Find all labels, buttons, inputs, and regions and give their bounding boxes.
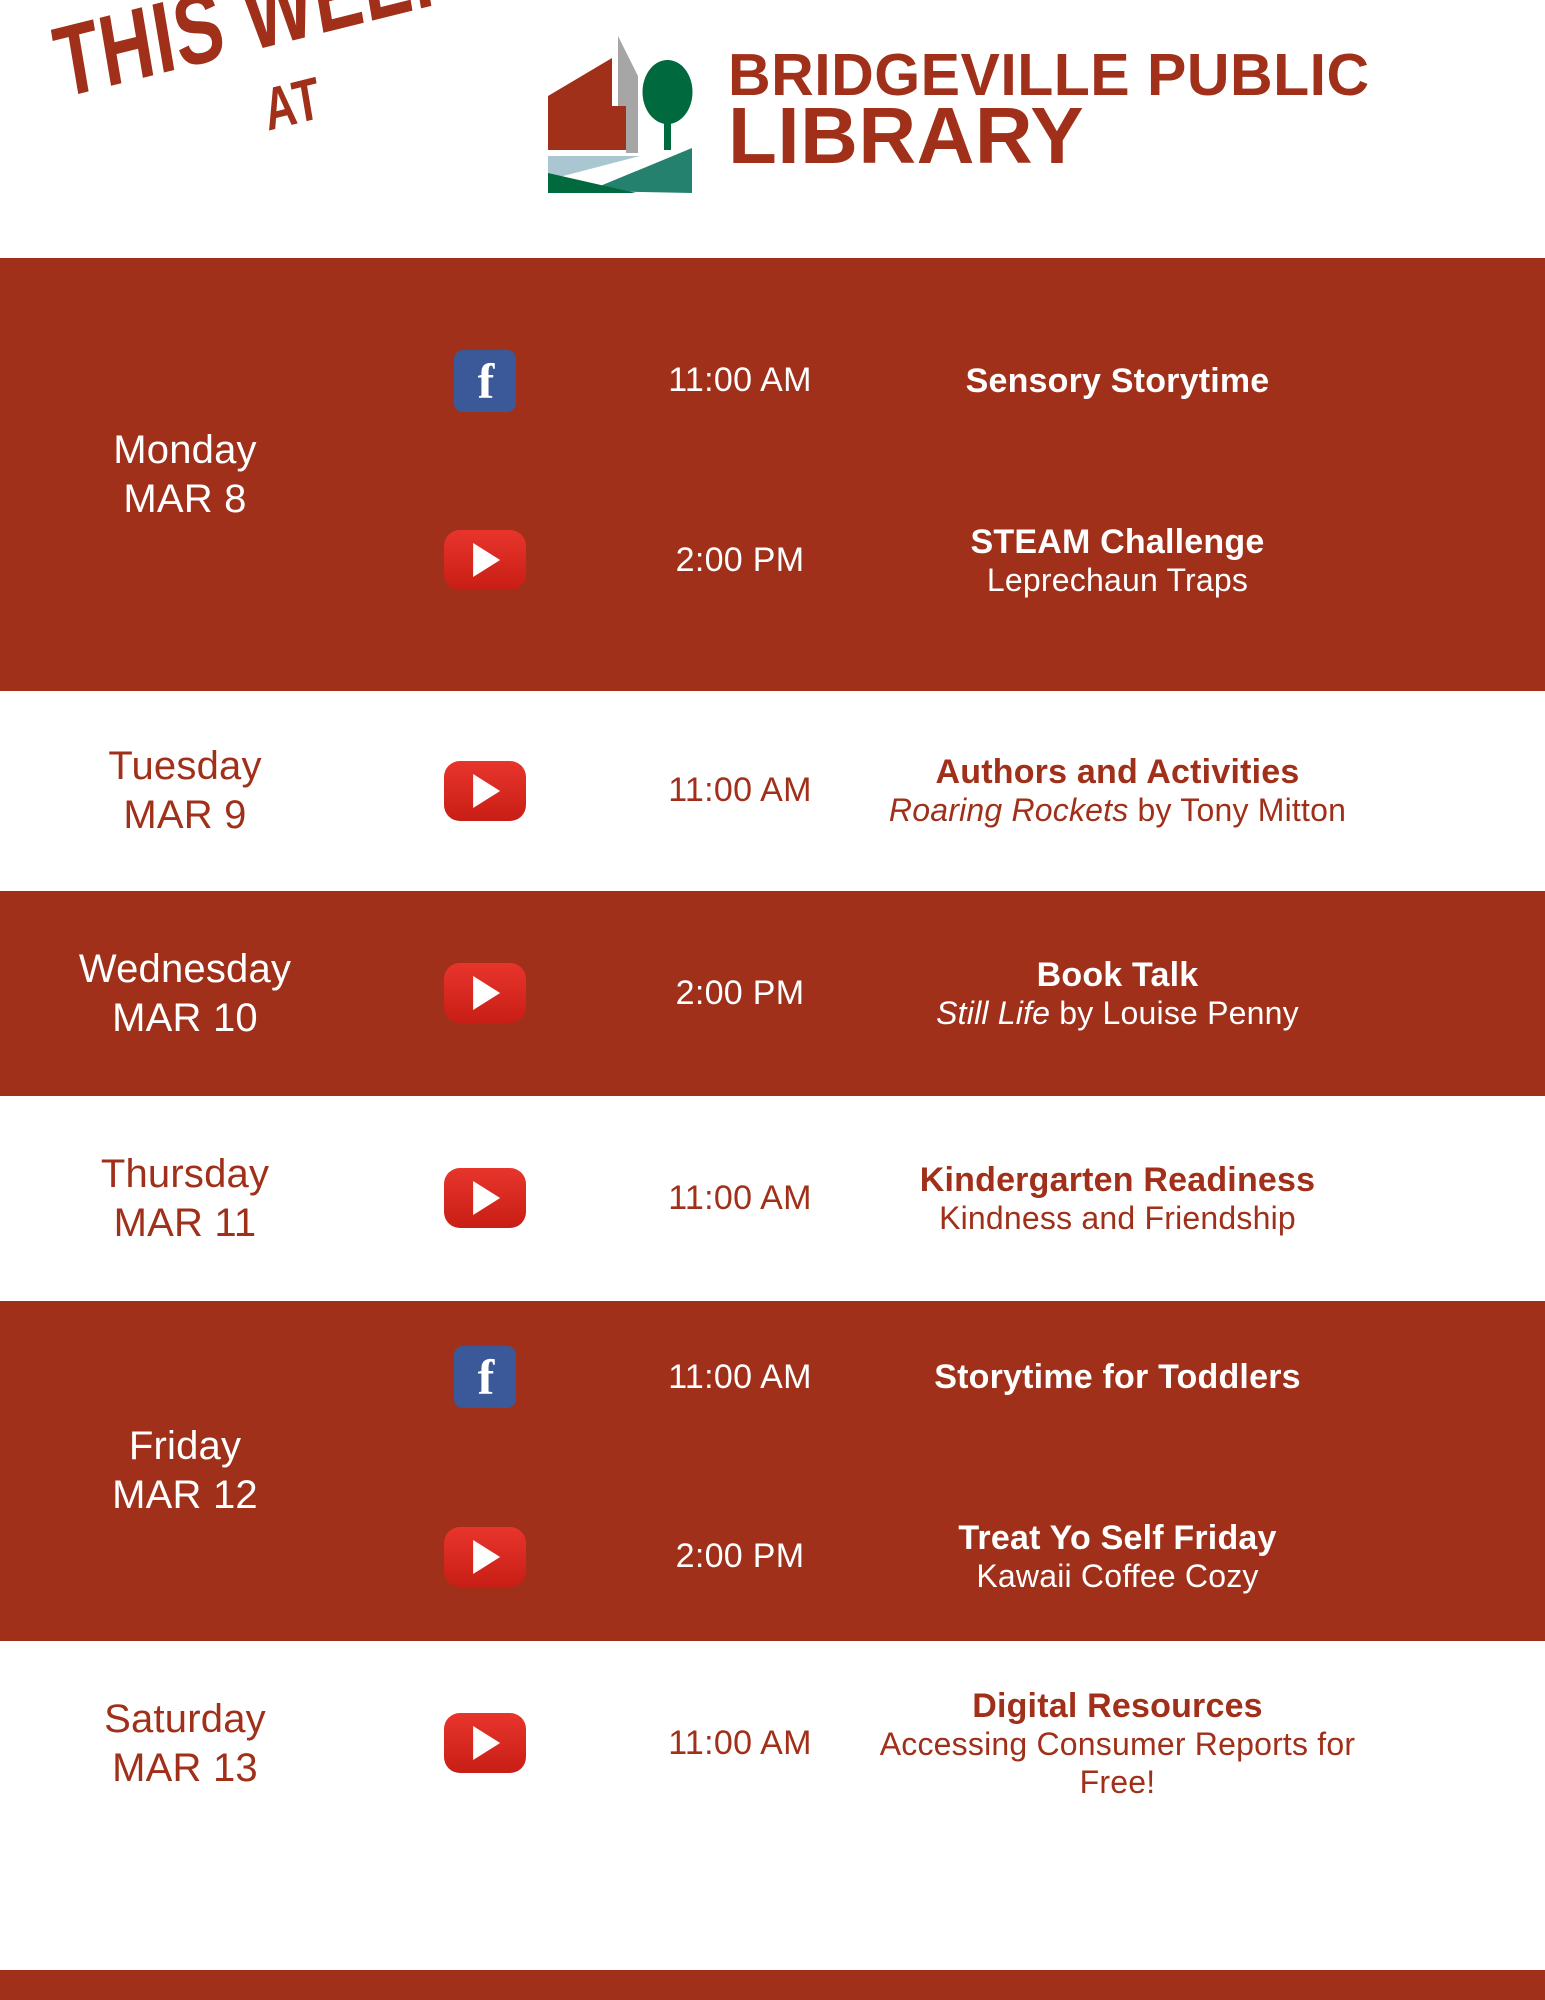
youtube-icon[interactable] [444,1527,526,1587]
footer-band [0,1970,1545,2000]
event-platform-icon-cell [360,963,610,1023]
event-list: 11:00 AMAuthors and ActivitiesRoaring Ro… [360,752,1545,830]
youtube-icon[interactable] [444,530,526,590]
event-platform-icon-cell [360,1346,610,1408]
event-detail: Storytime for Toddlers [870,1357,1545,1397]
youtube-icon[interactable] [444,761,526,821]
event-title: Sensory Storytime [870,361,1365,401]
event-title: STEAM Challenge [870,522,1365,562]
event-platform-icon-cell [360,1527,610,1587]
event-time: 11:00 AM [610,1724,870,1763]
event-list: 11:00 AMKindergarten ReadinessKindness a… [360,1160,1545,1238]
event-subtitle-text: Kawaii Coffee Cozy [976,1558,1258,1594]
event-detail: Treat Yo Self FridayKawaii Coffee Cozy [870,1518,1545,1596]
event-detail: Digital ResourcesAccessing Consumer Repo… [870,1686,1545,1802]
event-title: Authors and Activities [870,752,1365,792]
event-time: 2:00 PM [610,541,870,580]
event-subtitle: Kindness and Friendship [870,1200,1365,1238]
day-label: FridayMAR 12 [0,1422,360,1520]
event-platform-icon-cell [360,1713,610,1773]
weekly-schedule: MondayMAR 811:00 AMSensory Storytime2:00… [0,258,1545,1846]
event-list: 11:00 AMStorytime for Toddlers2:00 PMTre… [360,1346,1545,1596]
event-subtitle: Roaring Rockets by Tony Mitton [870,792,1365,830]
event-subtitle-text: by Tony Mitton [1128,792,1346,828]
facebook-icon[interactable] [454,350,516,412]
event-time: 11:00 AM [610,771,870,810]
youtube-icon[interactable] [444,1713,526,1773]
event-item: 11:00 AMStorytime for Toddlers [360,1346,1545,1408]
day-name: Wednesday [10,945,360,994]
event-item: 2:00 PMBook TalkStill Life by Louise Pen… [360,955,1545,1033]
day-date: MAR 13 [10,1744,360,1793]
logo-wordmark: BRIDGEVILLE PUBLIC LIBRARY [728,50,1370,172]
event-time: 2:00 PM [610,1537,870,1576]
day-row-monday: MondayMAR 811:00 AMSensory Storytime2:00… [0,258,1545,691]
logo-line-two: LIBRARY [728,102,1370,171]
event-title: Book Talk [870,955,1365,995]
event-subtitle-text: Accessing Consumer Reports for Free! [880,1726,1356,1800]
event-detail: Book TalkStill Life by Louise Penny [870,955,1545,1033]
event-item: 11:00 AMAuthors and ActivitiesRoaring Ro… [360,752,1545,830]
day-row-thursday: ThursdayMAR 1111:00 AMKindergarten Readi… [0,1096,1545,1301]
youtube-icon[interactable] [444,1168,526,1228]
event-list: 2:00 PMBook TalkStill Life by Louise Pen… [360,955,1545,1033]
library-logo: BRIDGEVILLE PUBLIC LIBRARY [540,28,1370,193]
day-name: Tuesday [10,742,360,791]
event-title: Digital Resources [870,1686,1365,1726]
event-subtitle-title: Roaring Rockets [889,792,1129,828]
day-date: MAR 11 [10,1199,360,1248]
event-item: 2:00 PMTreat Yo Self FridayKawaii Coffee… [360,1518,1545,1596]
event-detail: Sensory Storytime [870,361,1545,401]
day-date: MAR 8 [10,475,360,524]
this-week-at-title: THIS WEEK AT [48,0,517,227]
library-building-tree-logo-icon [540,28,700,193]
day-row-saturday: SaturdayMAR 1311:00 AMDigital ResourcesA… [0,1641,1545,1846]
day-label: TuesdayMAR 9 [0,742,360,840]
day-date: MAR 9 [10,791,360,840]
day-label: MondayMAR 8 [0,426,360,524]
event-title: Storytime for Toddlers [870,1357,1365,1397]
event-subtitle: Still Life by Louise Penny [870,995,1365,1033]
event-detail: STEAM ChallengeLeprechaun Traps [870,522,1545,600]
event-subtitle: Leprechaun Traps [870,562,1365,600]
day-name: Saturday [10,1695,360,1744]
event-subtitle-text: Leprechaun Traps [987,562,1248,598]
day-label: WednesdayMAR 10 [0,945,360,1043]
event-time: 11:00 AM [610,1358,870,1397]
event-list: 11:00 AMDigital ResourcesAccessing Consu… [360,1686,1545,1802]
event-detail: Authors and ActivitiesRoaring Rockets by… [870,752,1545,830]
day-name: Thursday [10,1150,360,1199]
event-platform-icon-cell [360,350,610,412]
event-item: 11:00 AMKindergarten ReadinessKindness a… [360,1160,1545,1238]
event-item: 2:00 PMSTEAM ChallengeLeprechaun Traps [360,522,1545,600]
event-subtitle-title: Still Life [936,995,1050,1031]
day-label: ThursdayMAR 11 [0,1150,360,1248]
event-platform-icon-cell [360,1168,610,1228]
event-subtitle: Accessing Consumer Reports for Free! [870,1726,1365,1802]
event-subtitle: Kawaii Coffee Cozy [870,1558,1365,1596]
event-platform-icon-cell [360,530,610,590]
day-row-tuesday: TuesdayMAR 911:00 AMAuthors and Activiti… [0,691,1545,891]
event-time: 11:00 AM [610,1179,870,1218]
day-row-wednesday: WednesdayMAR 102:00 PMBook TalkStill Lif… [0,891,1545,1096]
event-title: Kindergarten Readiness [870,1160,1365,1200]
event-time: 2:00 PM [610,974,870,1013]
event-subtitle-text: Kindness and Friendship [939,1200,1296,1236]
youtube-icon[interactable] [444,963,526,1023]
day-name: Friday [10,1422,360,1471]
event-item: 11:00 AMDigital ResourcesAccessing Consu… [360,1686,1545,1802]
day-name: Monday [10,426,360,475]
facebook-icon[interactable] [454,1346,516,1408]
day-label: SaturdayMAR 13 [0,1695,360,1793]
page-header: THIS WEEK AT BRIDGEVILLE PUB [0,0,1545,258]
day-row-friday: FridayMAR 1211:00 AMStorytime for Toddle… [0,1301,1545,1641]
event-title: Treat Yo Self Friday [870,1518,1365,1558]
event-platform-icon-cell [360,761,610,821]
day-date: MAR 10 [10,994,360,1043]
event-item: 11:00 AMSensory Storytime [360,350,1545,412]
event-subtitle-text: by Louise Penny [1050,995,1299,1031]
day-date: MAR 12 [10,1471,360,1520]
event-list: 11:00 AMSensory Storytime2:00 PMSTEAM Ch… [360,350,1545,600]
event-detail: Kindergarten ReadinessKindness and Frien… [870,1160,1545,1238]
event-time: 11:00 AM [610,361,870,400]
